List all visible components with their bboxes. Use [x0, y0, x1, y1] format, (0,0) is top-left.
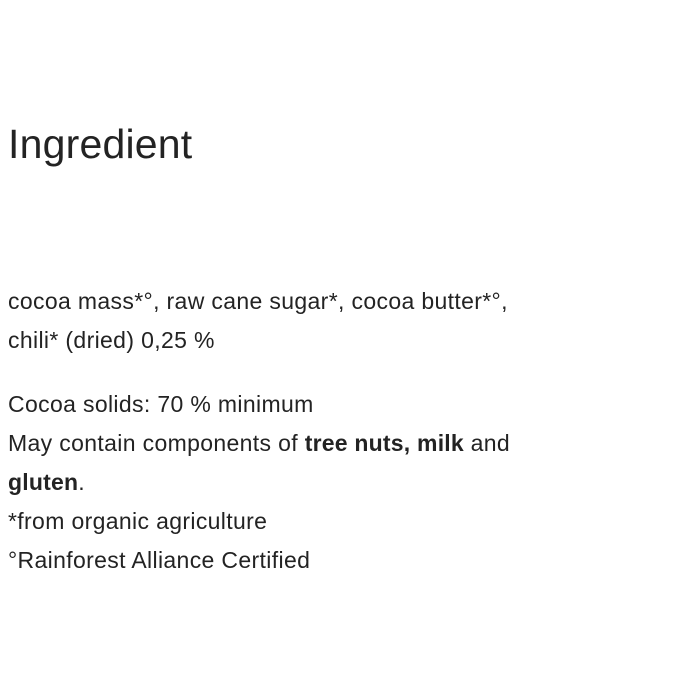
may-contain-prefix: May contain components of — [8, 430, 305, 456]
ingredients-line-2: chili* (dried) 0,25 % — [8, 321, 700, 360]
ingredients-line-1: cocoa mass*°, raw cane sugar*, cocoa but… — [8, 282, 700, 321]
may-contain-line-2: gluten. — [8, 463, 700, 502]
footnote-rainforest-alliance: °Rainforest Alliance Certified — [8, 541, 700, 580]
ingredients-paragraph: cocoa mass*°, raw cane sugar*, cocoa but… — [8, 282, 700, 360]
allergen-tree-nuts: tree nuts, — [305, 430, 411, 456]
details-paragraph: Cocoa solids: 70 % minimum May contain c… — [8, 385, 700, 580]
page-title: Ingredient — [8, 120, 688, 168]
cocoa-solids-line: Cocoa solids: 70 % minimum — [8, 385, 700, 424]
may-contain-line-1: May contain components of tree nuts, mil… — [8, 424, 700, 463]
ingredient-info-page: Ingredient cocoa mass*°, raw cane sugar*… — [0, 0, 700, 700]
footnote-organic-agriculture: *from organic agriculture — [8, 502, 700, 541]
allergen-milk: milk — [417, 430, 464, 456]
allergen-gluten: gluten — [8, 469, 78, 495]
title-block: Ingredient — [8, 120, 688, 168]
may-contain-conjunction: and — [464, 430, 510, 456]
may-contain-suffix: . — [78, 469, 85, 495]
ingredient-body: cocoa mass*°, raw cane sugar*, cocoa but… — [8, 282, 700, 580]
